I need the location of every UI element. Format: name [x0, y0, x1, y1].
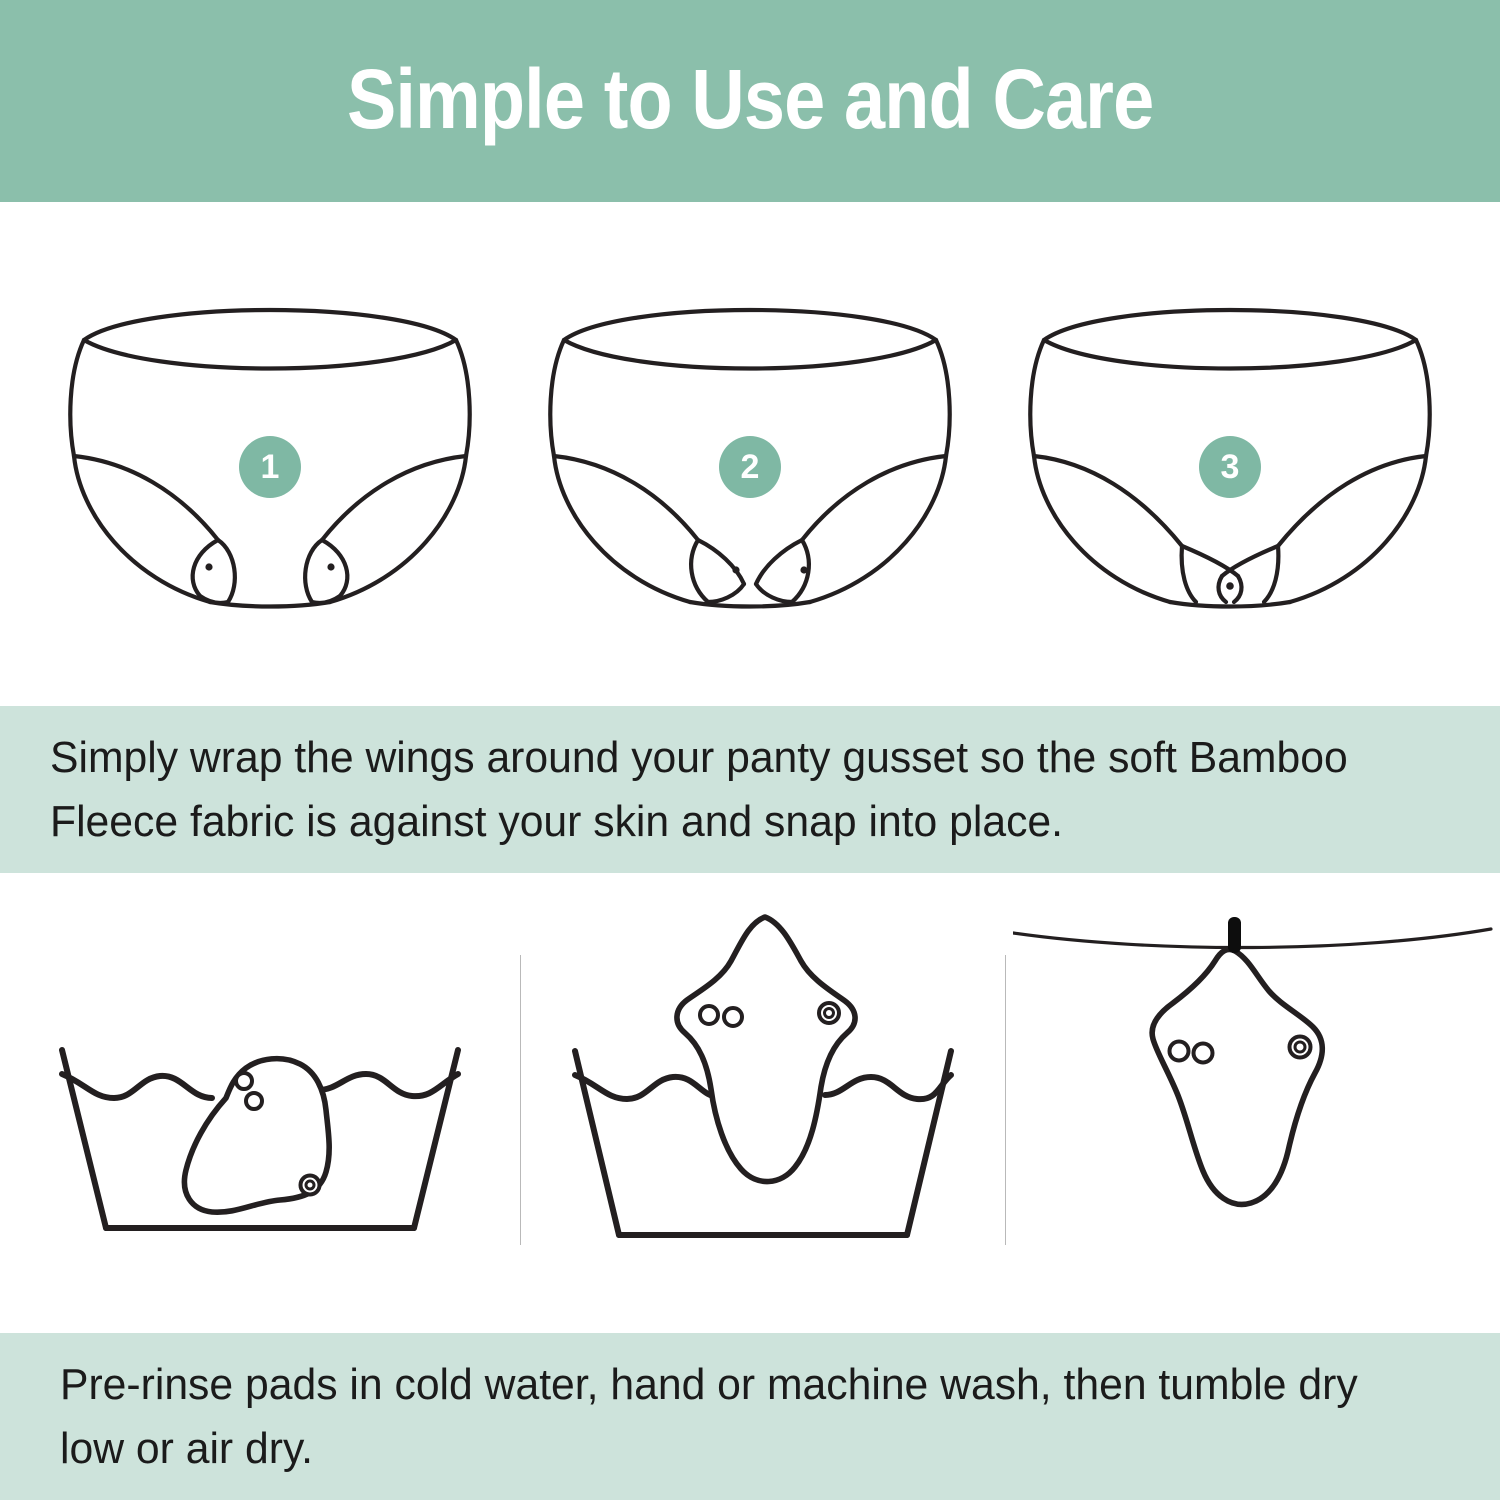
snap-ring	[246, 1093, 262, 1109]
snap-ring	[724, 1008, 742, 1026]
pad-hanging-on-clothesline-icon	[1013, 903, 1493, 1303]
infographic-page: Simple to Use and Care	[0, 0, 1500, 1500]
care-icons-row	[0, 873, 1500, 1333]
care-icon-cell-1	[0, 873, 520, 1333]
step-illustration-3: 3	[1020, 284, 1440, 624]
snap-dot	[1226, 582, 1234, 590]
snap-ring-inner	[824, 1009, 833, 1018]
snap-dot	[327, 563, 334, 570]
snap-dot	[800, 566, 807, 573]
snap-ring-inner	[306, 1181, 314, 1189]
care-icon-cell-2	[520, 873, 1005, 1333]
snap-dot	[205, 563, 212, 570]
step-badge-1: 1	[239, 436, 301, 498]
snap-ring	[1193, 1044, 1212, 1063]
snap-dot	[732, 566, 739, 573]
step-illustration-2: 2	[540, 284, 960, 624]
header-band: Simple to Use and Care	[0, 0, 1500, 202]
snap-ring	[1169, 1042, 1188, 1061]
snap-ring-inner	[1295, 1042, 1305, 1052]
care-instruction-band: Pre-rinse pads in cold water, hand or ma…	[0, 1333, 1500, 1500]
clothesline	[1013, 929, 1491, 948]
pad-soaking-in-basin-icon	[40, 938, 480, 1268]
care-instruction-text: Pre-rinse pads in cold water, hand or ma…	[60, 1353, 1399, 1481]
steps-row: 1	[0, 202, 1500, 706]
pad-dipping-into-basin-icon	[543, 903, 983, 1303]
step-badge-2: 2	[719, 436, 781, 498]
instruction-text: Simply wrap the wings around your panty …	[50, 726, 1408, 854]
clothespin	[1228, 917, 1241, 953]
step-badge-3: 3	[1199, 436, 1261, 498]
page-title: Simple to Use and Care	[347, 57, 1153, 141]
care-icon-cell-3	[1005, 873, 1500, 1333]
instruction-band: Simply wrap the wings around your panty …	[0, 706, 1500, 873]
snap-ring	[700, 1006, 718, 1024]
snap-ring	[236, 1073, 252, 1089]
step-illustration-1: 1	[60, 284, 480, 624]
